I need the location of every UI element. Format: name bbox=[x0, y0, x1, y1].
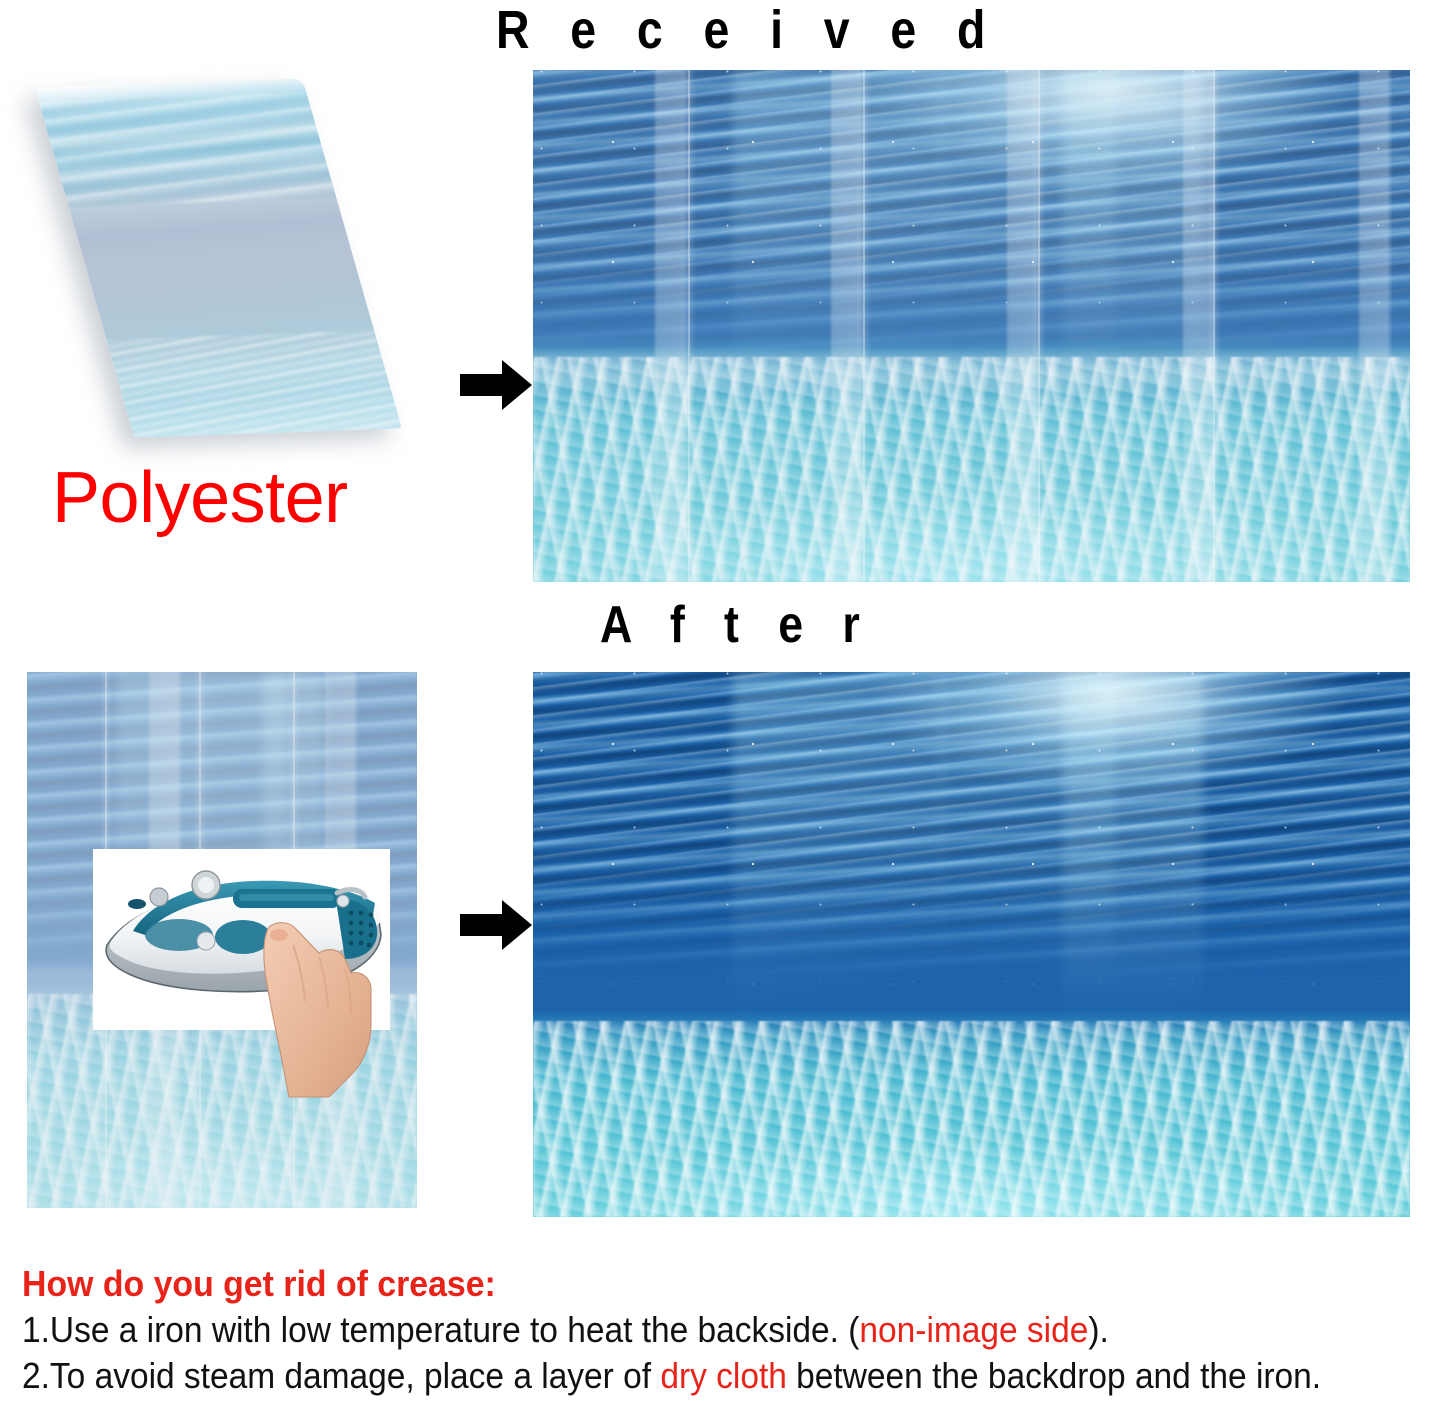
polyester-fabric-swatch bbox=[35, 79, 402, 438]
crease-wash-overlay bbox=[533, 70, 1410, 582]
instruction-1-suffix: ). bbox=[1088, 1309, 1108, 1350]
right-arrow-icon bbox=[458, 358, 534, 412]
polyester-material-label: Polyester bbox=[52, 460, 348, 536]
instruction-2-suffix: between the backdrop and the iron. bbox=[787, 1355, 1321, 1396]
instruction-1-prefix: 1.Use a iron with low temperature to hea… bbox=[22, 1309, 859, 1350]
after-backdrop-image bbox=[533, 672, 1410, 1217]
instruction-line-1: 1.Use a iron with low temperature to hea… bbox=[22, 1308, 1324, 1352]
instructions-block: How do you get rid of crease: 1.Use a ir… bbox=[22, 1262, 1422, 1398]
steam-iron-photo bbox=[93, 849, 390, 1030]
caustics-layer bbox=[533, 1021, 1410, 1217]
instruction-line-2: 2.To avoid steam damage, place a layer o… bbox=[22, 1354, 1324, 1398]
received-backdrop-image bbox=[533, 70, 1410, 582]
instruction-1-highlight: non-image side bbox=[859, 1309, 1088, 1350]
instruction-2-highlight: dry cloth bbox=[660, 1355, 787, 1396]
received-section-title: R e c e i v e d bbox=[496, 2, 999, 58]
right-arrow-icon bbox=[458, 898, 534, 952]
instructions-heading: How do you get rid of crease: bbox=[22, 1262, 1338, 1306]
after-section-title: A f t e r bbox=[600, 598, 873, 652]
instruction-2-prefix: 2.To avoid steam damage, place a layer o… bbox=[22, 1355, 660, 1396]
